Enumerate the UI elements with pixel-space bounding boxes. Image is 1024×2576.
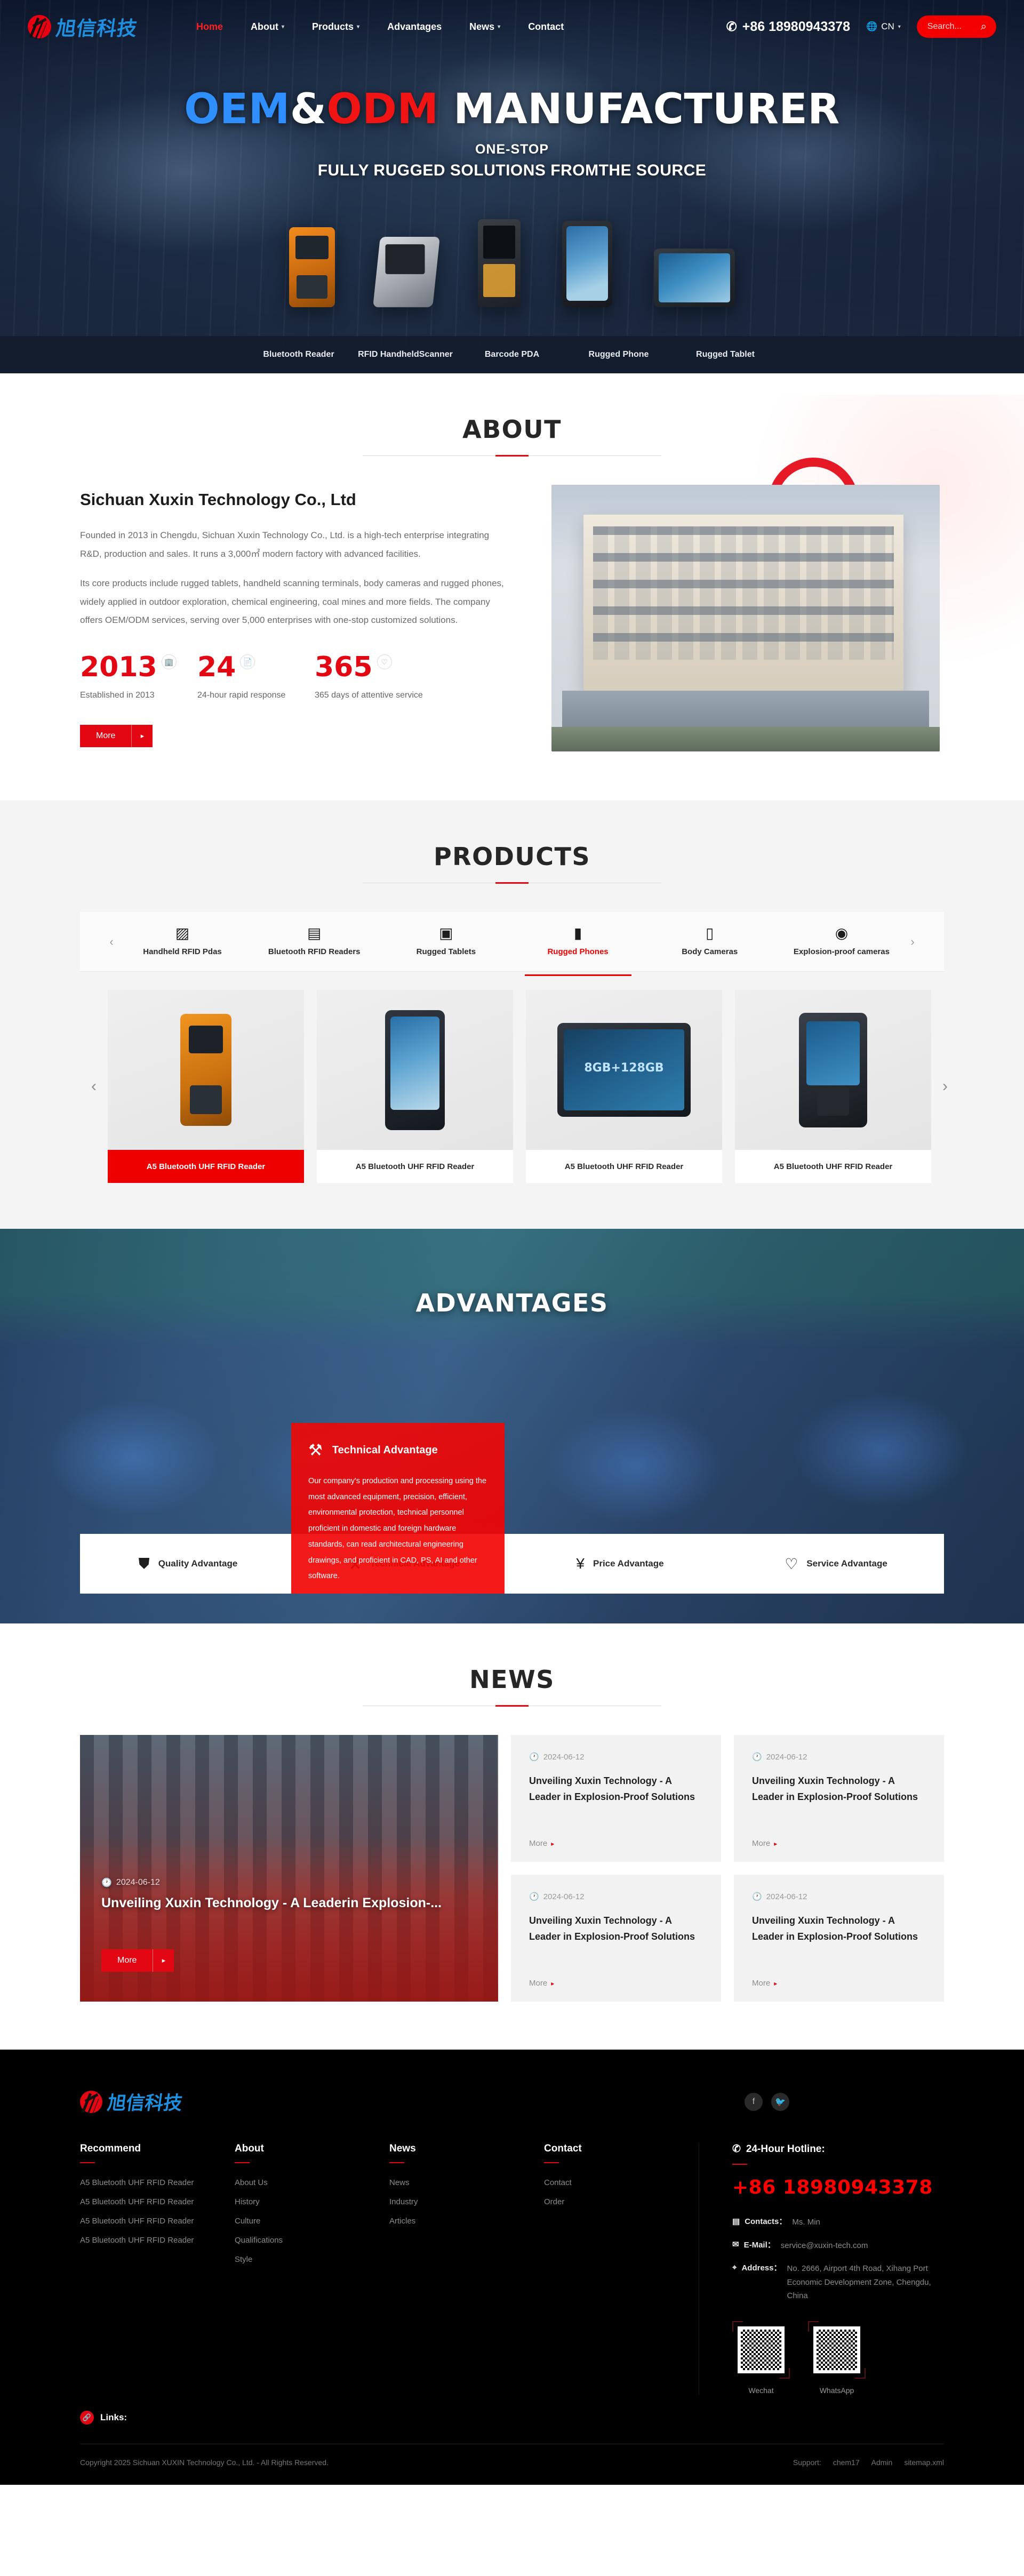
about-wrap: ABOUT Sichuan Xuxin Technology Co., Ltd … <box>80 415 944 751</box>
product-category-rugged-tablets[interactable]: ▣ Rugged Tablets <box>382 926 510 958</box>
address-label: Address： <box>741 2262 781 2273</box>
hero-category-rugged-phone[interactable]: Rugged Phone <box>565 350 672 359</box>
product-card[interactable]: A5 Bluetooth UHF RFID Reader <box>108 990 304 1183</box>
hero-title-amp: & <box>290 85 327 133</box>
footer-contact-panel: ✆ 24-Hour Hotline: +86 18980943378 ▤Cont… <box>699 2143 944 2395</box>
product-category-handheld-rfid-pdas[interactable]: ▨ Handheld RFID Pdas <box>118 926 246 958</box>
search-icon[interactable]: ⌕ <box>981 21 987 33</box>
qr-frame <box>808 2321 866 2379</box>
about-text-col: Sichuan Xuxin Technology Co., Ltd Founde… <box>80 485 507 747</box>
advantages-section-head: ADVANTAGES <box>0 1229 1024 1317</box>
explosion-proof-camera-icon: ◉ <box>778 926 906 941</box>
footer-contacts-key: ▤Contacts： <box>732 2215 787 2227</box>
product-thumbnail <box>108 990 304 1150</box>
nav-item-contact[interactable]: Contact <box>528 21 564 33</box>
nav-label: Home <box>196 21 223 33</box>
phone-icon: ✆ <box>732 2143 741 2155</box>
news-card-more[interactable]: More ▸ <box>529 1839 554 1848</box>
product-category-explosion-proof-cameras[interactable]: ◉ Explosion-proof cameras <box>778 926 906 958</box>
chevron-down-icon: ▾ <box>357 24 359 30</box>
footer-social: f 🐦 <box>745 2093 789 2111</box>
stat-caption: 24-hour rapid response <box>197 691 315 700</box>
footer-link[interactable]: Style <box>235 2255 389 2264</box>
products-section: PRODUCTS ‹ ▨ Handheld RFID Pdas ▤ Blueto… <box>0 801 1024 1229</box>
stat-caption: 365 days of attentive service <box>315 691 432 700</box>
product-prev-button[interactable]: ‹ <box>80 1073 108 1100</box>
hero-subtitle-2: FULLY RUGGED SOLUTIONS FROMTHE SOURCE <box>0 162 1024 180</box>
about-section-head: ABOUT <box>80 415 944 456</box>
nav-label: About <box>251 21 278 33</box>
more-label: More <box>529 1979 547 1988</box>
category-label: Bluetooth RFID Readers <box>268 947 361 956</box>
shield-q-icon: ⛊ <box>139 1555 150 1573</box>
search-box[interactable]: ⌕ <box>917 15 996 38</box>
footer-column-underline <box>80 2162 95 2163</box>
advantages-section-title: ADVANTAGES <box>0 1289 1024 1317</box>
about-more-label: More <box>80 725 131 747</box>
about-section-title: ABOUT <box>80 415 944 444</box>
twitter-icon[interactable]: 🐦 <box>771 2093 789 2111</box>
heart-icon: ♡ <box>377 654 392 669</box>
document-icon: 📄 <box>240 654 255 669</box>
email-label: E-Mail： <box>744 2239 775 2250</box>
product-name: A5 Bluetooth UHF RFID Reader <box>108 1150 304 1183</box>
footer-friendly-links: 🔗 Links: <box>0 2395 1024 2425</box>
footer-link[interactable]: Order <box>544 2197 699 2206</box>
nav-item-home[interactable]: Home <box>196 21 223 33</box>
footer-column-title: News <box>389 2143 544 2155</box>
yen-chart-icon: ¥ <box>576 1555 585 1572</box>
footer-column-news: News News Industry Articles <box>389 2143 544 2395</box>
footer-links-label: Links: <box>100 2412 127 2423</box>
footer-email-row: ✉E-Mail： service@xuxin-tech.com <box>732 2239 944 2253</box>
device-rugged-tablet-image <box>654 249 735 307</box>
news-grid: 🕐 2024-06-12 Unveiling Xuxin Technology … <box>80 1735 944 2002</box>
stat-caption: Established in 2013 <box>80 691 197 700</box>
whatsapp-qr-image <box>813 2326 860 2373</box>
news-card-date: 2024-06-12 <box>543 1753 585 1762</box>
stat-service: 365 ♡ 365 days of attentive service <box>315 653 432 700</box>
wechat-qr-image <box>738 2326 785 2373</box>
rugged-phone-icon: ▮ <box>514 926 642 941</box>
main-nav: Home About ▾ Products ▾ Advantages News … <box>196 21 564 33</box>
hero-category-bar: Bluetooth Reader RFID HandheldScanner Ba… <box>0 336 1024 373</box>
news-section-head: NEWS <box>80 1665 944 1706</box>
category-label: Handheld RFID Pdas <box>143 947 222 956</box>
news-card-date-row: 🕐 2024-06-12 <box>529 1752 703 1762</box>
featured-news-date-row: 🕐 2024-06-12 <box>101 1877 477 1888</box>
product-thumbnail <box>735 990 931 1150</box>
category-label: Explosion-proof cameras <box>794 947 890 956</box>
arrow-right-icon: ▸ <box>774 1980 777 1987</box>
more-label: More <box>752 1979 770 1988</box>
category-label: Rugged Tablets <box>417 947 476 956</box>
footer-link[interactable]: About Us <box>235 2178 389 2187</box>
product-carousel: ‹ A5 Bluetooth UHF RFID Reader A5 Blueto… <box>80 990 944 1183</box>
building-shape <box>583 515 903 691</box>
footer-link[interactable]: A5 Bluetooth UHF RFID Reader <box>80 2178 235 2187</box>
hero-copy: OEM&ODM MANUFACTURER ONE-STOP FULLY RUGG… <box>0 85 1024 180</box>
footer-link[interactable]: Articles <box>389 2217 544 2226</box>
nav-label: Advantages <box>387 21 442 33</box>
nav-item-news[interactable]: News ▾ <box>469 21 500 33</box>
about-more-button[interactable]: More ▸ <box>80 725 153 747</box>
news-card-title: Unveiling Xuxin Technology - A Leader in… <box>529 1913 703 1945</box>
category-label: Body Cameras <box>682 947 738 956</box>
contacts-label: Contacts： <box>745 2215 787 2227</box>
more-label: More <box>752 1839 770 1848</box>
hero-category-bluetooth-reader[interactable]: Bluetooth Reader <box>245 350 352 359</box>
news-section: NEWS 🕐 2024-06-12 Unveiling Xuxin Techno… <box>0 1623 1024 2050</box>
product-image-shape <box>557 1023 691 1117</box>
news-card-title: Unveiling Xuxin Technology - A Leader in… <box>529 1773 703 1805</box>
footer-body: Recommend A5 Bluetooth UHF RFID Reader A… <box>0 2115 1024 2395</box>
chevron-down-icon: ▾ <box>498 24 500 30</box>
language-label: CN <box>881 21 894 32</box>
footer-copyright-text: Copyright 2025 Sichuan XUXIN Technology … <box>80 2458 329 2467</box>
footer-link-columns: Recommend A5 Bluetooth UHF RFID Reader A… <box>80 2143 699 2395</box>
page-root: 旭信科技 Home About ▾ Products ▾ Advantages <box>0 0 1024 2485</box>
footer-address-value: No. 2666, Airport 4th Road, Xihang Port … <box>787 2262 944 2303</box>
arrow-right-icon: ▸ <box>131 725 153 747</box>
advantages-bar: ⛊ Quality Advantage ⚒ Technical Advantag… <box>80 1534 944 1594</box>
footer-support: Support: chem17 Admin sitemap.xml <box>793 2458 944 2467</box>
footer-column-contact: Contact Contact Order <box>544 2143 699 2395</box>
about-section: ABOUT Sichuan Xuxin Technology Co., Ltd … <box>0 373 1024 801</box>
advantage-label: Service Advantage <box>806 1558 887 1569</box>
news-card-date: 2024-06-12 <box>766 1892 807 1901</box>
advantage-panel-title: Technical Advantage <box>332 1444 438 1457</box>
hero-title-manufacturer: MANUFACTURER <box>439 85 840 133</box>
chevron-down-icon: ▾ <box>898 24 901 30</box>
stat-number: 24 <box>197 653 236 681</box>
nav-item-advantages[interactable]: Advantages <box>387 21 442 33</box>
building-base-shape <box>562 691 929 732</box>
footer-top: 旭信科技 f 🐦 <box>0 2088 1024 2115</box>
clock-icon: 🕐 <box>752 1752 762 1762</box>
advantage-item-quality[interactable]: ⛊ Quality Advantage <box>80 1555 296 1573</box>
product-categories: ▨ Handheld RFID Pdas ▤ Bluetooth RFID Re… <box>118 926 906 958</box>
clock-icon: 🕐 <box>752 1892 762 1901</box>
footer-link[interactable]: Culture <box>235 2217 389 2226</box>
link-icon: 🔗 <box>80 2411 94 2425</box>
footer-hotline-underline <box>732 2164 747 2165</box>
qr-wechat[interactable]: Wechat <box>732 2321 790 2395</box>
product-next-button[interactable]: › <box>931 1073 959 1100</box>
footer-column-about: About About Us History Culture Qualifica… <box>235 2143 389 2395</box>
qr-frame <box>732 2321 790 2379</box>
more-label: More <box>529 1839 547 1848</box>
stat-response: 24 📄 24-hour rapid response <box>197 653 315 700</box>
products-section-title: PRODUCTS <box>80 842 944 871</box>
product-image-shape <box>385 1010 445 1130</box>
products-wrap: PRODUCTS ‹ ▨ Handheld RFID Pdas ▤ Blueto… <box>80 842 944 1183</box>
header-phone-number: +86 18980943378 <box>742 19 850 35</box>
search-input[interactable] <box>927 22 972 31</box>
news-card[interactable]: 🕐 2024-06-12 Unveiling Xuxin Technology … <box>511 1735 721 1862</box>
device-rugged-phone-image <box>562 221 612 307</box>
nav-label: Products <box>312 21 354 33</box>
arrow-right-icon: ▸ <box>153 1949 174 1972</box>
footer-email-value[interactable]: service@xuxin-tech.com <box>781 2239 868 2253</box>
logo-text: 旭信科技 <box>54 12 140 41</box>
product-category-bar: ‹ ▨ Handheld RFID Pdas ▤ Bluetooth RFID … <box>80 912 944 972</box>
about-company-name: Sichuan Xuxin Technology Co., Ltd <box>80 490 507 509</box>
category-label: Rugged Phones <box>547 947 608 956</box>
product-thumbnail <box>526 990 722 1150</box>
footer-link[interactable]: A5 Bluetooth UHF RFID Reader <box>80 2197 235 2206</box>
device-barcode-pda-image <box>478 219 521 307</box>
advantage-panel-head: ⚒ Technical Advantage <box>308 1441 487 1460</box>
about-stats: 2013 🏢 Established in 2013 24 📄 24-hour … <box>80 653 507 700</box>
more-label: More <box>101 1949 153 1972</box>
footer-column-title: About <box>235 2143 389 2155</box>
arrow-right-icon: ▸ <box>551 1980 554 1987</box>
footer-support-link-sitemap[interactable]: sitemap.xml <box>904 2458 944 2467</box>
about-row: Sichuan Xuxin Technology Co., Ltd Founde… <box>80 485 944 751</box>
location-pin-icon: ⌖ <box>732 2263 737 2272</box>
news-wrap: NEWS 🕐 2024-06-12 Unveiling Xuxin Techno… <box>80 1665 944 2002</box>
bluetooth-rfid-reader-icon: ▤ <box>250 926 378 941</box>
footer-link[interactable]: News <box>389 2178 544 2187</box>
stat-number: 2013 <box>80 653 157 681</box>
news-section-title: NEWS <box>80 1665 944 1694</box>
category-prev-button[interactable]: ‹ <box>105 935 118 949</box>
footer-column-recommend: Recommend A5 Bluetooth UHF RFID Reader A… <box>80 2143 235 2395</box>
news-card-title: Unveiling Xuxin Technology - A Leader in… <box>752 1913 926 1945</box>
site-header: 旭信科技 Home About ▾ Products ▾ Advantages <box>0 0 1024 53</box>
site-logo[interactable]: 旭信科技 <box>28 12 138 41</box>
footer-link[interactable]: A5 Bluetooth UHF RFID Reader <box>80 2236 235 2245</box>
advantage-panel-text: Our company's production and processing … <box>308 1474 487 1585</box>
footer-link[interactable]: Contact <box>544 2178 699 2187</box>
footer-support-link-admin[interactable]: Admin <box>871 2458 893 2467</box>
advantage-label: Quality Advantage <box>158 1558 238 1569</box>
mail-icon: ✉ <box>732 2239 739 2249</box>
news-card[interactable]: 🕐 2024-06-12 Unveiling Xuxin Technology … <box>734 1735 944 1862</box>
footer-hotline-label: 24-Hour Hotline: <box>746 2143 825 2155</box>
news-card-row: 🕐 2024-06-12 Unveiling Xuxin Technology … <box>511 1875 944 2002</box>
section-rule <box>363 455 661 456</box>
stat-established: 2013 🏢 Established in 2013 <box>80 653 197 700</box>
news-card-column: 🕐 2024-06-12 Unveiling Xuxin Technology … <box>511 1735 944 2002</box>
language-selector[interactable]: 🌐 CN ▾ <box>866 21 901 32</box>
advantage-item-price[interactable]: ¥ Price Advantage <box>512 1555 728 1572</box>
footer-contacts-value: Ms. Min <box>792 2215 820 2229</box>
news-card-more[interactable]: More ▸ <box>752 1839 777 1848</box>
featured-news-date: 2024-06-12 <box>116 1878 160 1887</box>
product-card[interactable]: A5 Bluetooth UHF RFID Reader <box>526 990 722 1183</box>
header-phone[interactable]: ✆ +86 18980943378 <box>726 19 850 35</box>
handheld-rfid-pda-icon: ▨ <box>118 926 246 941</box>
news-card-date-row: 🕐 2024-06-12 <box>752 1752 926 1762</box>
rugged-tablet-icon: ▣ <box>382 926 510 941</box>
footer-link[interactable]: History <box>235 2197 389 2206</box>
clock-icon: 🕐 <box>529 1892 539 1901</box>
product-image-shape <box>180 1014 231 1126</box>
hero-title-odm: ODM <box>326 85 438 133</box>
advantage-label: Price Advantage <box>593 1558 664 1569</box>
featured-news-card[interactable]: 🕐 2024-06-12 Unveiling Xuxin Technology … <box>80 1735 498 2002</box>
about-building-photo <box>551 485 940 751</box>
footer-column-underline <box>544 2162 559 2163</box>
news-card-date-row: 🕐 2024-06-12 <box>752 1892 926 1901</box>
qr-whatsapp[interactable]: WhatsApp <box>808 2321 866 2395</box>
product-image-shape <box>799 1013 867 1127</box>
hero-category-barcode-pda[interactable]: Barcode PDA <box>459 350 565 359</box>
featured-news-title: Unveiling Xuxin Technology - A Leaderin … <box>101 1895 477 1911</box>
chevron-down-icon: ▾ <box>282 24 284 30</box>
featured-news-more-button[interactable]: More ▸ <box>101 1949 174 1972</box>
featured-news-body: 🕐 2024-06-12 Unveiling Xuxin Technology … <box>101 1877 477 1972</box>
building-grass-shape <box>551 727 940 751</box>
hero-banner: 旭信科技 Home About ▾ Products ▾ Advantages <box>0 0 1024 373</box>
globe-icon: 🌐 <box>866 21 877 32</box>
hero-category-rugged-tablet[interactable]: Rugged Tablet <box>672 350 779 359</box>
footer-phone-number[interactable]: +86 18980943378 <box>732 2177 944 2198</box>
stat-number: 365 <box>315 653 373 681</box>
news-card-date: 2024-06-12 <box>543 1892 585 1901</box>
nav-item-products[interactable]: Products ▾ <box>312 21 359 33</box>
qr-label: Wechat <box>732 2386 790 2395</box>
footer-column-title: Contact <box>544 2143 699 2155</box>
footer-column-underline <box>235 2162 250 2163</box>
product-category-rugged-phones[interactable]: ▮ Rugged Phones <box>514 926 642 958</box>
footer-link[interactable]: Industry <box>389 2197 544 2206</box>
qr-label: WhatsApp <box>808 2386 866 2395</box>
footer-column-title: Recommend <box>80 2143 235 2155</box>
advantages-section: ADVANTAGES ⛊ Quality Advantage ⚒ Technic… <box>0 1229 1024 1623</box>
footer-qr-codes: Wechat WhatsApp <box>732 2321 944 2395</box>
footer-logo[interactable]: 旭信科技 <box>80 2088 182 2115</box>
about-paragraph-2: Its core products include rugged tablets… <box>80 574 507 630</box>
products-section-head: PRODUCTS <box>80 842 944 883</box>
section-rule <box>363 1706 661 1706</box>
about-paragraph-1: Founded in 2013 in Chengdu, Sichuan Xuxi… <box>80 526 507 564</box>
hero-subtitle-1: ONE-STOP <box>0 142 1024 157</box>
advantage-item-service[interactable]: ♡ Service Advantage <box>728 1555 944 1573</box>
hero-background-stripes <box>0 0 1024 373</box>
news-card-more[interactable]: More ▸ <box>752 1979 777 1988</box>
hero-category-rfid-handheld-scanner[interactable]: RFID HandheldScanner <box>352 350 459 359</box>
hero-title: OEM&ODM MANUFACTURER <box>0 85 1024 133</box>
product-thumbnail <box>317 990 513 1150</box>
footer-copyright-bar: Copyright 2025 Sichuan XUXIN Technology … <box>0 2444 1024 2485</box>
nav-label: Contact <box>528 21 564 33</box>
footer-support-label: Support: <box>793 2458 821 2467</box>
logo-mark-icon <box>28 15 51 38</box>
footer-column-underline <box>389 2162 404 2163</box>
device-bluetooth-reader-image <box>289 227 335 307</box>
building-icon: 🏢 <box>162 654 177 669</box>
product-card[interactable]: A5 Bluetooth UHF RFID Reader <box>735 990 931 1183</box>
section-rule <box>363 883 661 883</box>
facebook-icon[interactable]: f <box>745 2093 763 2111</box>
news-card-date-row: 🕐 2024-06-12 <box>529 1892 703 1901</box>
product-card[interactable]: A5 Bluetooth UHF RFID Reader <box>317 990 513 1183</box>
news-card-date: 2024-06-12 <box>766 1753 807 1762</box>
arrow-right-icon: ▸ <box>551 1840 554 1847</box>
footer-address-row: ⌖Address： No. 2666, Airport 4th Road, Xi… <box>732 2262 944 2303</box>
tools-icon: ⚒ <box>308 1441 323 1460</box>
clock-icon: 🕐 <box>101 1877 112 1888</box>
news-card-title: Unveiling Xuxin Technology - A Leader in… <box>752 1773 926 1805</box>
footer-logo-text: 旭信科技 <box>106 2088 184 2115</box>
arrow-right-icon: ▸ <box>774 1840 777 1847</box>
hero-device-row <box>0 209 1024 307</box>
product-name: A5 Bluetooth UHF RFID Reader <box>735 1150 931 1183</box>
news-card-row: 🕐 2024-06-12 Unveiling Xuxin Technology … <box>511 1735 944 1862</box>
heart-hands-icon: ♡ <box>785 1555 798 1573</box>
advantage-detail-panel: ⚒ Technical Advantage Our company's prod… <box>291 1423 505 1594</box>
news-card-more[interactable]: More ▸ <box>529 1979 554 1988</box>
phone-icon: ✆ <box>726 19 737 35</box>
footer-contacts-row: ▤Contacts： Ms. Min <box>732 2215 944 2229</box>
category-next-button[interactable]: › <box>906 935 919 949</box>
device-rfid-scanner-image <box>373 237 440 307</box>
logo-mark-icon <box>80 2091 102 2113</box>
footer-support-link-chem17[interactable]: chem17 <box>833 2458 860 2467</box>
footer-address-key: ⌖Address： <box>732 2262 781 2273</box>
body-camera-icon: ▯ <box>646 926 774 941</box>
footer-hotline-head: ✆ 24-Hour Hotline: <box>732 2143 944 2155</box>
news-card[interactable]: 🕐 2024-06-12 Unveiling Xuxin Technology … <box>734 1875 944 2002</box>
hero-title-oem: OEM <box>184 85 290 133</box>
footer-email-key: ✉E-Mail： <box>732 2239 775 2250</box>
site-footer: 旭信科技 f 🐦 Recommend A5 Bluetooth UHF RFID… <box>0 2050 1024 2485</box>
header-right: ✆ +86 18980943378 🌐 CN ▾ ⌕ <box>726 15 996 38</box>
product-cards: A5 Bluetooth UHF RFID Reader A5 Bluetoot… <box>108 990 931 1183</box>
product-name: A5 Bluetooth UHF RFID Reader <box>317 1150 513 1183</box>
product-category-bluetooth-rfid-readers[interactable]: ▤ Bluetooth RFID Readers <box>250 926 378 958</box>
product-category-body-cameras[interactable]: ▯ Body Cameras <box>646 926 774 958</box>
footer-link[interactable]: Qualifications <box>235 2236 389 2245</box>
nav-label: News <box>469 21 494 33</box>
nav-item-about[interactable]: About ▾ <box>251 21 284 33</box>
clock-icon: 🕐 <box>529 1752 539 1762</box>
contact-card-icon: ▤ <box>732 2217 740 2226</box>
footer-link[interactable]: A5 Bluetooth UHF RFID Reader <box>80 2217 235 2226</box>
product-name: A5 Bluetooth UHF RFID Reader <box>526 1150 722 1183</box>
news-card[interactable]: 🕐 2024-06-12 Unveiling Xuxin Technology … <box>511 1875 721 2002</box>
